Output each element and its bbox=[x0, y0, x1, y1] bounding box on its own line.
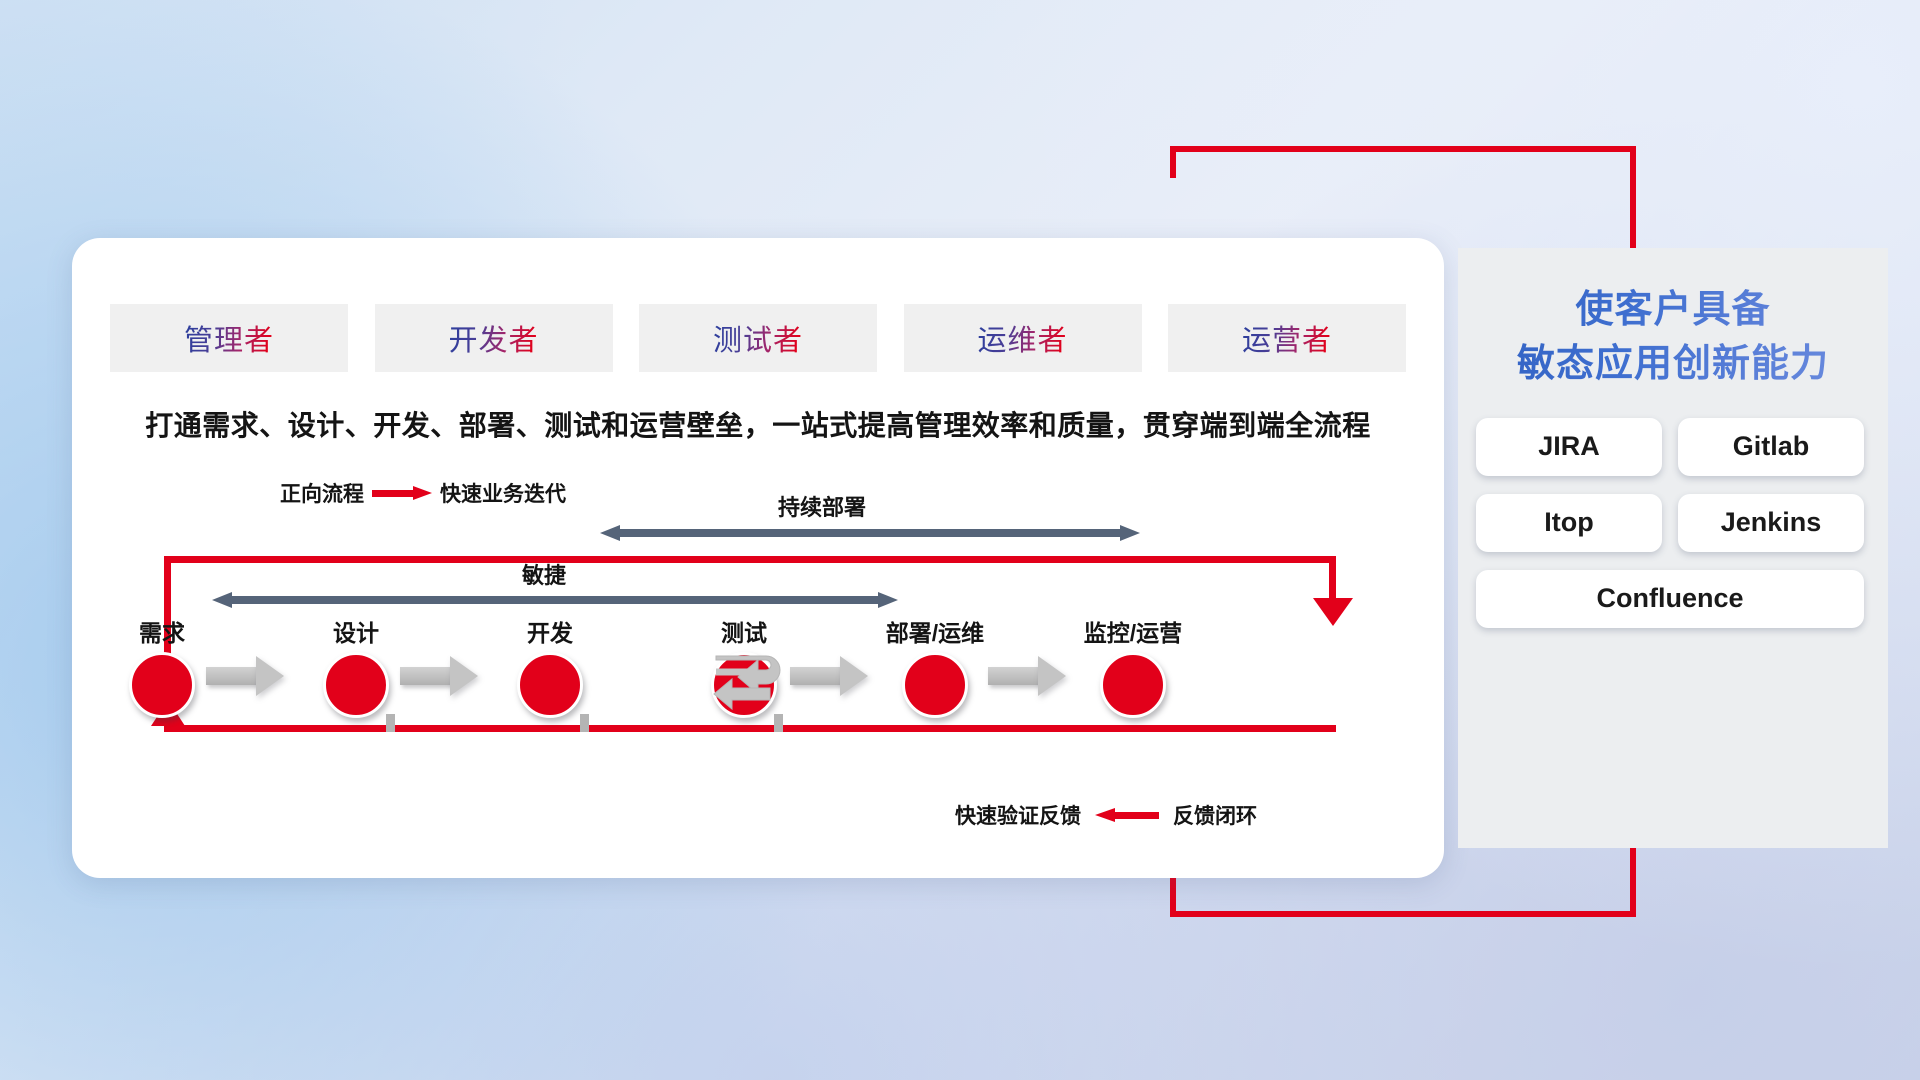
double-arrow-agile-icon bbox=[212, 592, 898, 608]
stage-label: 开发 bbox=[490, 614, 610, 648]
role-box-operations[interactable]: 运营者 bbox=[1168, 304, 1406, 372]
arrow-right-red-icon bbox=[372, 486, 432, 500]
role-label: 开发者 bbox=[448, 317, 538, 359]
value-panel: 使客户具备 敏态应用创新能力 JIRA Gitlab Itop Jenkins … bbox=[1458, 248, 1888, 848]
panel-title-line1: 使客户具备 bbox=[1458, 284, 1888, 338]
outer-bracket-top bbox=[1170, 146, 1636, 152]
agile-label: 敏捷 bbox=[522, 558, 566, 590]
role-box-developer[interactable]: 开发者 bbox=[375, 304, 613, 372]
tool-gitlab[interactable]: Gitlab bbox=[1678, 418, 1864, 476]
stage-label: 部署/运维 bbox=[875, 614, 995, 648]
feedback-legend: 快速验证反馈 反馈闭环 bbox=[955, 800, 1257, 830]
panel-title-line2: 敏态应用创新能力 bbox=[1458, 338, 1888, 392]
stage-stem-test bbox=[774, 714, 783, 732]
stage-design[interactable]: 设计 bbox=[296, 614, 416, 718]
stage-circle bbox=[517, 652, 583, 718]
stage-monitor-operations[interactable]: 监控/运营 bbox=[1073, 614, 1193, 718]
role-label: 测试者 bbox=[713, 317, 803, 359]
outer-bracket-bottom bbox=[1170, 911, 1636, 917]
role-box-ops[interactable]: 运维者 bbox=[904, 304, 1142, 372]
role-label: 运营者 bbox=[1242, 317, 1332, 359]
stage-circle bbox=[1100, 652, 1166, 718]
stage-circle bbox=[323, 652, 389, 718]
role-box-manager[interactable]: 管理者 bbox=[110, 304, 348, 372]
role-label: 管理者 bbox=[184, 317, 274, 359]
forward-flow-legend: 正向流程 快速业务迭代 bbox=[280, 478, 566, 508]
role-box-list: 管理者 开发者 测试者 运维者 运营者 bbox=[110, 304, 1406, 372]
stage-label: 测试 bbox=[684, 614, 804, 648]
gray-arrow-2-icon bbox=[400, 656, 478, 696]
arrow-left-red-icon bbox=[1095, 808, 1159, 822]
stage-requirement[interactable]: 需求 bbox=[102, 614, 222, 718]
stage-circle bbox=[902, 652, 968, 718]
stage-label: 监控/运营 bbox=[1073, 614, 1193, 648]
role-label: 运维者 bbox=[977, 317, 1067, 359]
tool-list: JIRA Gitlab Itop Jenkins Confluence bbox=[1476, 418, 1870, 628]
red-loop-right bbox=[1329, 556, 1336, 603]
forward-flow-label: 正向流程 bbox=[280, 478, 364, 508]
panel-title: 使客户具备 敏态应用创新能力 bbox=[1458, 284, 1888, 392]
stage-label: 设计 bbox=[296, 614, 416, 648]
gray-arrow-3-icon bbox=[790, 656, 868, 696]
stage-circle bbox=[129, 652, 195, 718]
outer-bracket-left bbox=[1170, 146, 1176, 178]
tool-jenkins[interactable]: Jenkins bbox=[1678, 494, 1864, 552]
double-arrow-continuous-deploy-icon bbox=[600, 525, 1140, 541]
red-loop-top bbox=[164, 556, 1336, 563]
headline-text: 打通需求、设计、开发、部署、测试和运营壁垒，一站式提高管理效率和质量，贯穿端到端… bbox=[0, 404, 1516, 444]
stage-development[interactable]: 开发 bbox=[490, 614, 610, 718]
tool-confluence[interactable]: Confluence bbox=[1476, 570, 1864, 628]
stage-stem-dev bbox=[580, 714, 589, 732]
role-box-tester[interactable]: 测试者 bbox=[639, 304, 877, 372]
rework-loop-icon bbox=[712, 650, 798, 714]
feedback-outcome: 快速验证反馈 bbox=[955, 800, 1081, 830]
stage-deploy-ops[interactable]: 部署/运维 bbox=[875, 614, 995, 718]
stage-stem-design bbox=[386, 714, 395, 732]
gray-arrow-4-icon bbox=[988, 656, 1066, 696]
feedback-label: 反馈闭环 bbox=[1173, 800, 1257, 830]
stage-label: 需求 bbox=[102, 614, 222, 648]
tool-itop[interactable]: Itop bbox=[1476, 494, 1662, 552]
continuous-deploy-label: 持续部署 bbox=[778, 490, 866, 522]
forward-flow-outcome: 快速业务迭代 bbox=[440, 478, 566, 508]
tool-jira[interactable]: JIRA bbox=[1476, 418, 1662, 476]
gray-arrow-1-icon bbox=[206, 656, 284, 696]
